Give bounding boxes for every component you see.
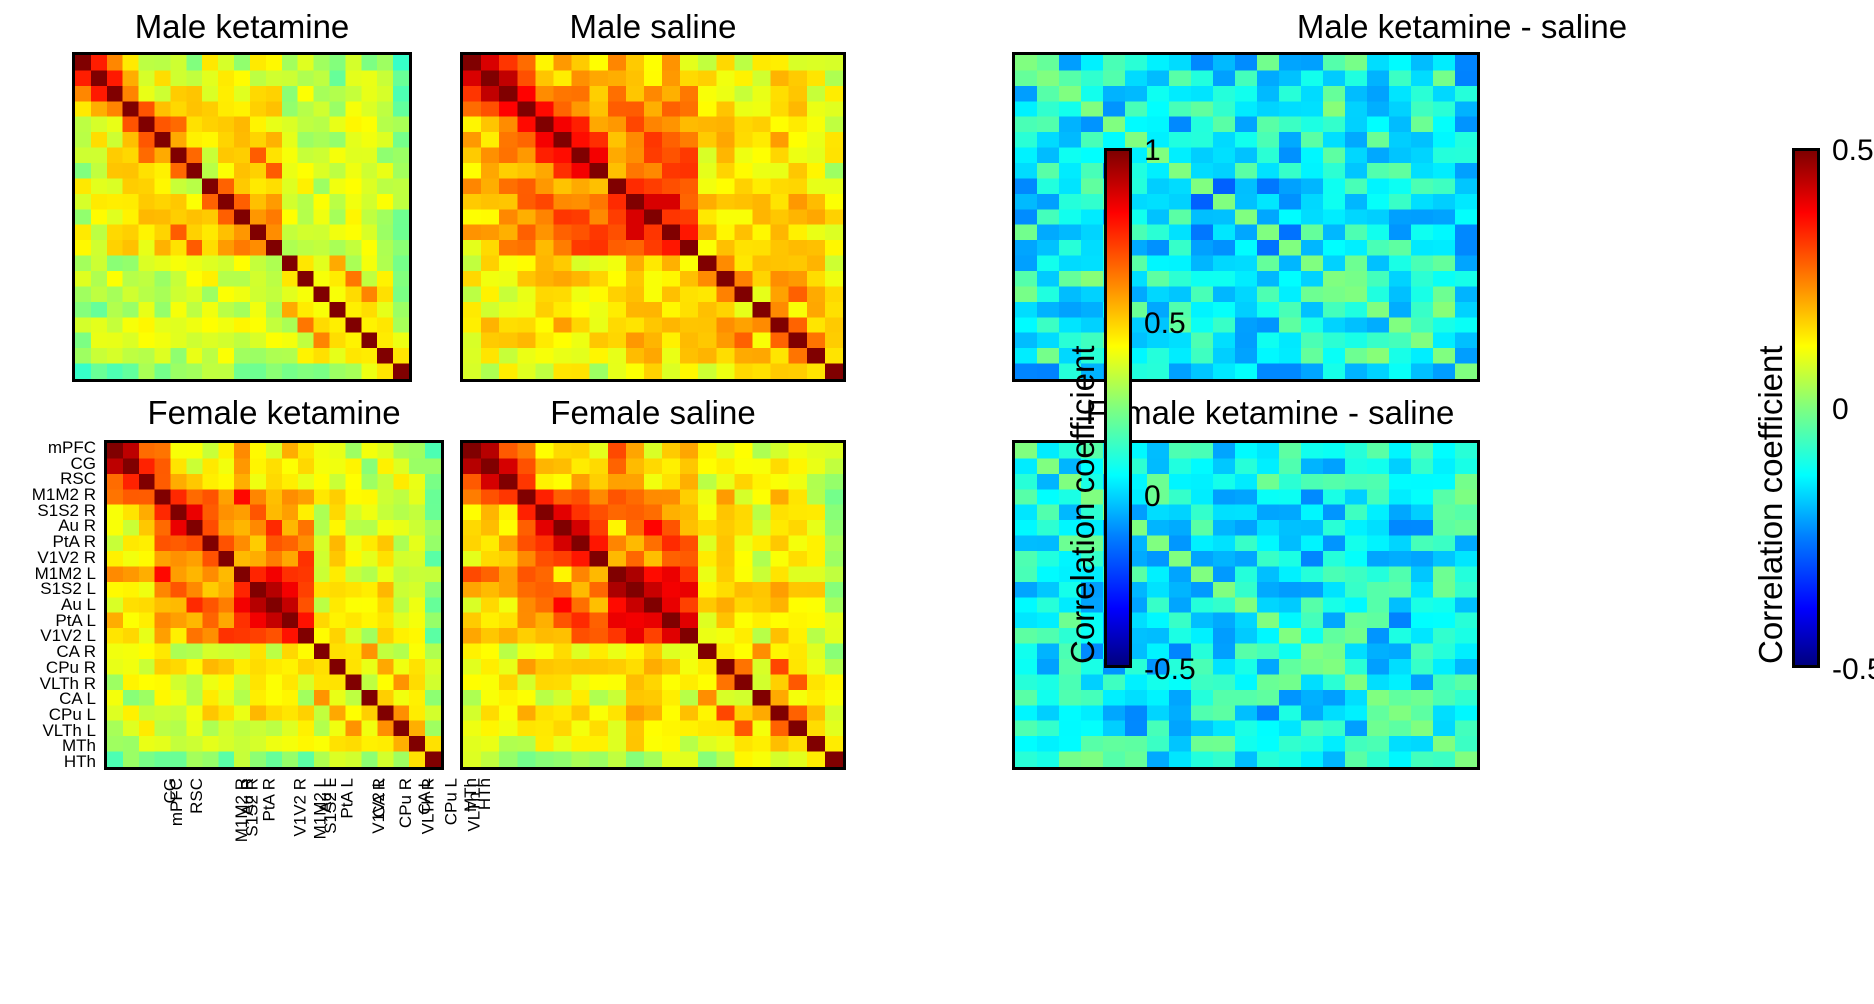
heatmap-female-ketamine[interactable] [104, 440, 444, 770]
colorbar-left-axis-label: Correlation coefficient [1064, 345, 1102, 664]
x-tick-label: HTh [476, 778, 493, 810]
heatmap-canvas [107, 443, 441, 767]
heatmap-canvas [75, 55, 409, 379]
x-tick-label: CA R [370, 778, 387, 818]
colorbar-left-tick-0_5: 0.5 [1144, 307, 1186, 341]
x-tick-label: Au R [239, 778, 256, 816]
x-tick-label: V1V2 R [292, 778, 309, 837]
colorbar-left-tick-0: 0 [1144, 480, 1161, 514]
heatmap-female-saline[interactable] [460, 440, 846, 770]
panel-title-female-ketamine: Female ketamine [104, 394, 444, 432]
panel-title-female-saline: Female saline [460, 394, 846, 432]
heatmap-canvas [463, 443, 843, 767]
colorbar-right-tick-0: 0 [1832, 393, 1849, 427]
colorbar-left[interactable] [1104, 148, 1132, 668]
heatmap-male-ketamine[interactable] [72, 52, 412, 382]
panel-title-male-ketamine-minus-saline: Male ketamine - saline [1192, 8, 1732, 46]
panel-title-male-ketamine: Male ketamine [72, 8, 412, 46]
heatmap-canvas [463, 55, 843, 379]
heatmap-male-saline[interactable] [460, 52, 846, 382]
x-tick-label: Au L [317, 778, 334, 813]
x-tick-label: RSC [188, 778, 205, 814]
x-tick-label: PtA L [339, 778, 356, 819]
colorbar-left-tick-neg0_5: -0.5 [1144, 653, 1196, 687]
y-axis-tick-labels: mPFCCGRSCM1M2 RS1S2 RAu RPtA RV1V2 RM1M2… [0, 440, 100, 770]
panel-title-male-saline: Male saline [460, 8, 846, 46]
colorbar-right-tick-0_5: 0.5 [1832, 134, 1874, 168]
x-axis-tick-labels: mPFCCGRSCM1M2 RS1S2 RAu RPtA RV1V2 RM1M2… [104, 774, 444, 894]
colorbar-left-tick-1: 1 [1144, 134, 1161, 168]
heatmap-male-ketamine-minus-saline[interactable] [1012, 52, 1480, 382]
heatmap-canvas [1015, 55, 1477, 379]
colorbar-right[interactable] [1792, 148, 1820, 668]
y-tick-label: HTh [64, 753, 96, 770]
x-tick-label: CA L [416, 778, 433, 815]
x-tick-label: CG [162, 778, 179, 804]
x-tick-label: CPu R [397, 778, 414, 828]
x-tick-label: CPu L [443, 778, 460, 825]
x-tick-label: PtA R [261, 778, 278, 821]
figure-canvas: Male ketamine Male saline Male ketamine … [0, 0, 1874, 1004]
colorbar-right-tick-neg0_5: -0.5 [1832, 653, 1874, 687]
colorbar-right-axis-label: Correlation coefficient [1752, 345, 1790, 664]
